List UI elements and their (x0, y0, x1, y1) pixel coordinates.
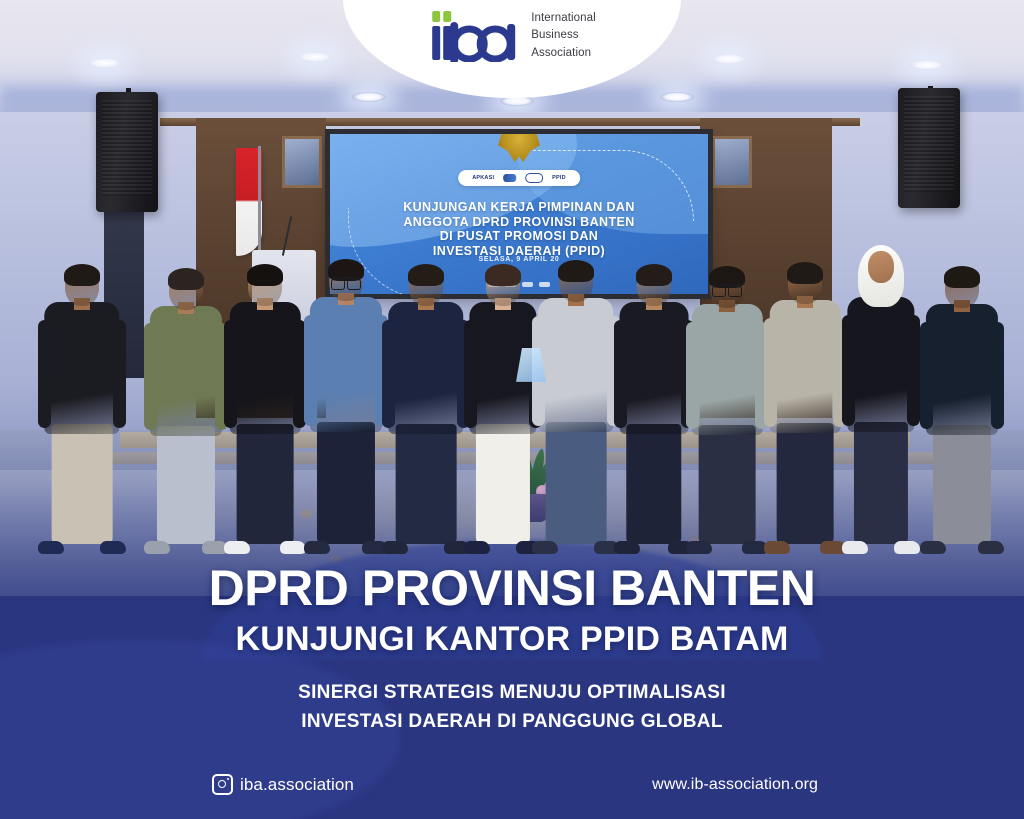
torso (692, 304, 763, 435)
hair (485, 264, 521, 286)
speaker (898, 88, 960, 208)
arm (224, 320, 237, 428)
torso (620, 302, 689, 434)
torso (538, 298, 613, 432)
legs (317, 422, 375, 544)
iba-logo-icon (428, 10, 520, 62)
shoe (144, 541, 170, 554)
iba-brand-text: International Business Association (531, 11, 596, 62)
legs (157, 426, 215, 544)
arm (382, 320, 395, 428)
hair (636, 264, 672, 286)
arm (304, 315, 317, 426)
torso (388, 302, 463, 434)
poster-root: APKASI PPID KUNJUNGAN KERJA PIMPINAN DAN… (0, 0, 1024, 819)
downlight (712, 54, 746, 64)
shoe (842, 541, 868, 554)
downlight (910, 60, 944, 70)
arm (113, 320, 126, 428)
legs (777, 423, 834, 544)
screen-title-line2: ANGGOTA DPRD PROVINSI BANTEN (338, 215, 700, 230)
arm (991, 322, 1004, 429)
arm (764, 318, 777, 427)
headline-secondary: KUNJUNGI KANTOR PPID BATAM (0, 622, 1024, 656)
shoe (894, 541, 920, 554)
screen-logo-row: APKASI PPID (458, 170, 580, 186)
torso (44, 302, 119, 434)
wall-portrait (282, 136, 322, 188)
wall-portrait (712, 136, 752, 188)
shoe (382, 541, 408, 554)
legs (626, 424, 681, 544)
arm (842, 315, 855, 426)
brand-line-1: International (531, 11, 596, 27)
arm (38, 320, 51, 428)
instagram-icon (212, 774, 233, 795)
hair (558, 260, 594, 282)
hair (64, 264, 100, 286)
iba-logo-svg (428, 10, 520, 62)
footer: iba.association www.ib-association.org (0, 771, 1024, 795)
screen-logo-iba-icon (525, 173, 543, 183)
torso (230, 302, 301, 434)
legs (237, 424, 294, 544)
brand-line-3: Association (531, 46, 596, 62)
arm (686, 322, 699, 429)
legs (476, 424, 530, 544)
instagram-handle: iba.association (240, 775, 354, 795)
brand-line-2: Business (531, 28, 596, 44)
downlight (88, 58, 122, 68)
face (868, 251, 894, 283)
screen-logo-apkasi: APKASI (472, 175, 494, 181)
glasses-icon (712, 284, 742, 295)
shoe (38, 541, 64, 554)
website-url[interactable]: www.ib-association.org (652, 776, 818, 794)
headline-primary: DPRD PROVINSI BANTEN (0, 563, 1024, 613)
shoe (100, 541, 126, 554)
arm (920, 322, 933, 429)
hair (787, 262, 823, 284)
legs (854, 422, 908, 544)
shoe (920, 541, 946, 554)
arm (907, 315, 920, 426)
torso (150, 306, 222, 436)
glasses-icon (331, 277, 361, 288)
torso (770, 300, 841, 433)
screen-logo-ppid: PPID (552, 175, 566, 181)
shoe (614, 541, 640, 554)
screen-title-line1: KUNJUNGAN KERJA PIMPINAN DAN (338, 200, 700, 215)
subtitle-block: SINERGI STRATEGIS MENUJU OPTIMALISASI IN… (0, 678, 1024, 737)
shoe (224, 541, 250, 554)
iba-brand-logo: International Business Association (428, 10, 596, 62)
shoe (304, 541, 330, 554)
arm (144, 323, 157, 430)
screen-title-line3: DI PUSAT PROMOSI DAN (338, 229, 700, 244)
speaker (96, 92, 158, 212)
shoe (280, 541, 306, 554)
hair (247, 264, 283, 286)
legs (933, 425, 991, 544)
downlight (298, 52, 332, 62)
hair (944, 266, 980, 288)
legs (699, 425, 756, 544)
arm (614, 320, 627, 428)
instagram-handle-group[interactable]: iba.association (212, 774, 354, 795)
shoe (978, 541, 1004, 554)
hair (408, 264, 444, 286)
legs (396, 424, 457, 544)
hair (168, 268, 204, 290)
screen-emblem-icon (503, 174, 516, 182)
torso (310, 297, 382, 432)
legs (546, 422, 607, 544)
shoe (764, 541, 790, 554)
shoe (464, 541, 490, 554)
shoe (532, 541, 558, 554)
legs (52, 424, 113, 544)
downlight (352, 92, 386, 102)
subtitle-line-2: INVESTASI DAERAH DI PANGGUNG GLOBAL (0, 707, 1024, 736)
subtitle-line-1: SINERGI STRATEGIS MENUJU OPTIMALISASI (0, 678, 1024, 707)
torso (926, 304, 998, 435)
shoe (686, 541, 712, 554)
downlight (660, 92, 694, 102)
arm (464, 320, 477, 428)
torso (847, 297, 914, 432)
